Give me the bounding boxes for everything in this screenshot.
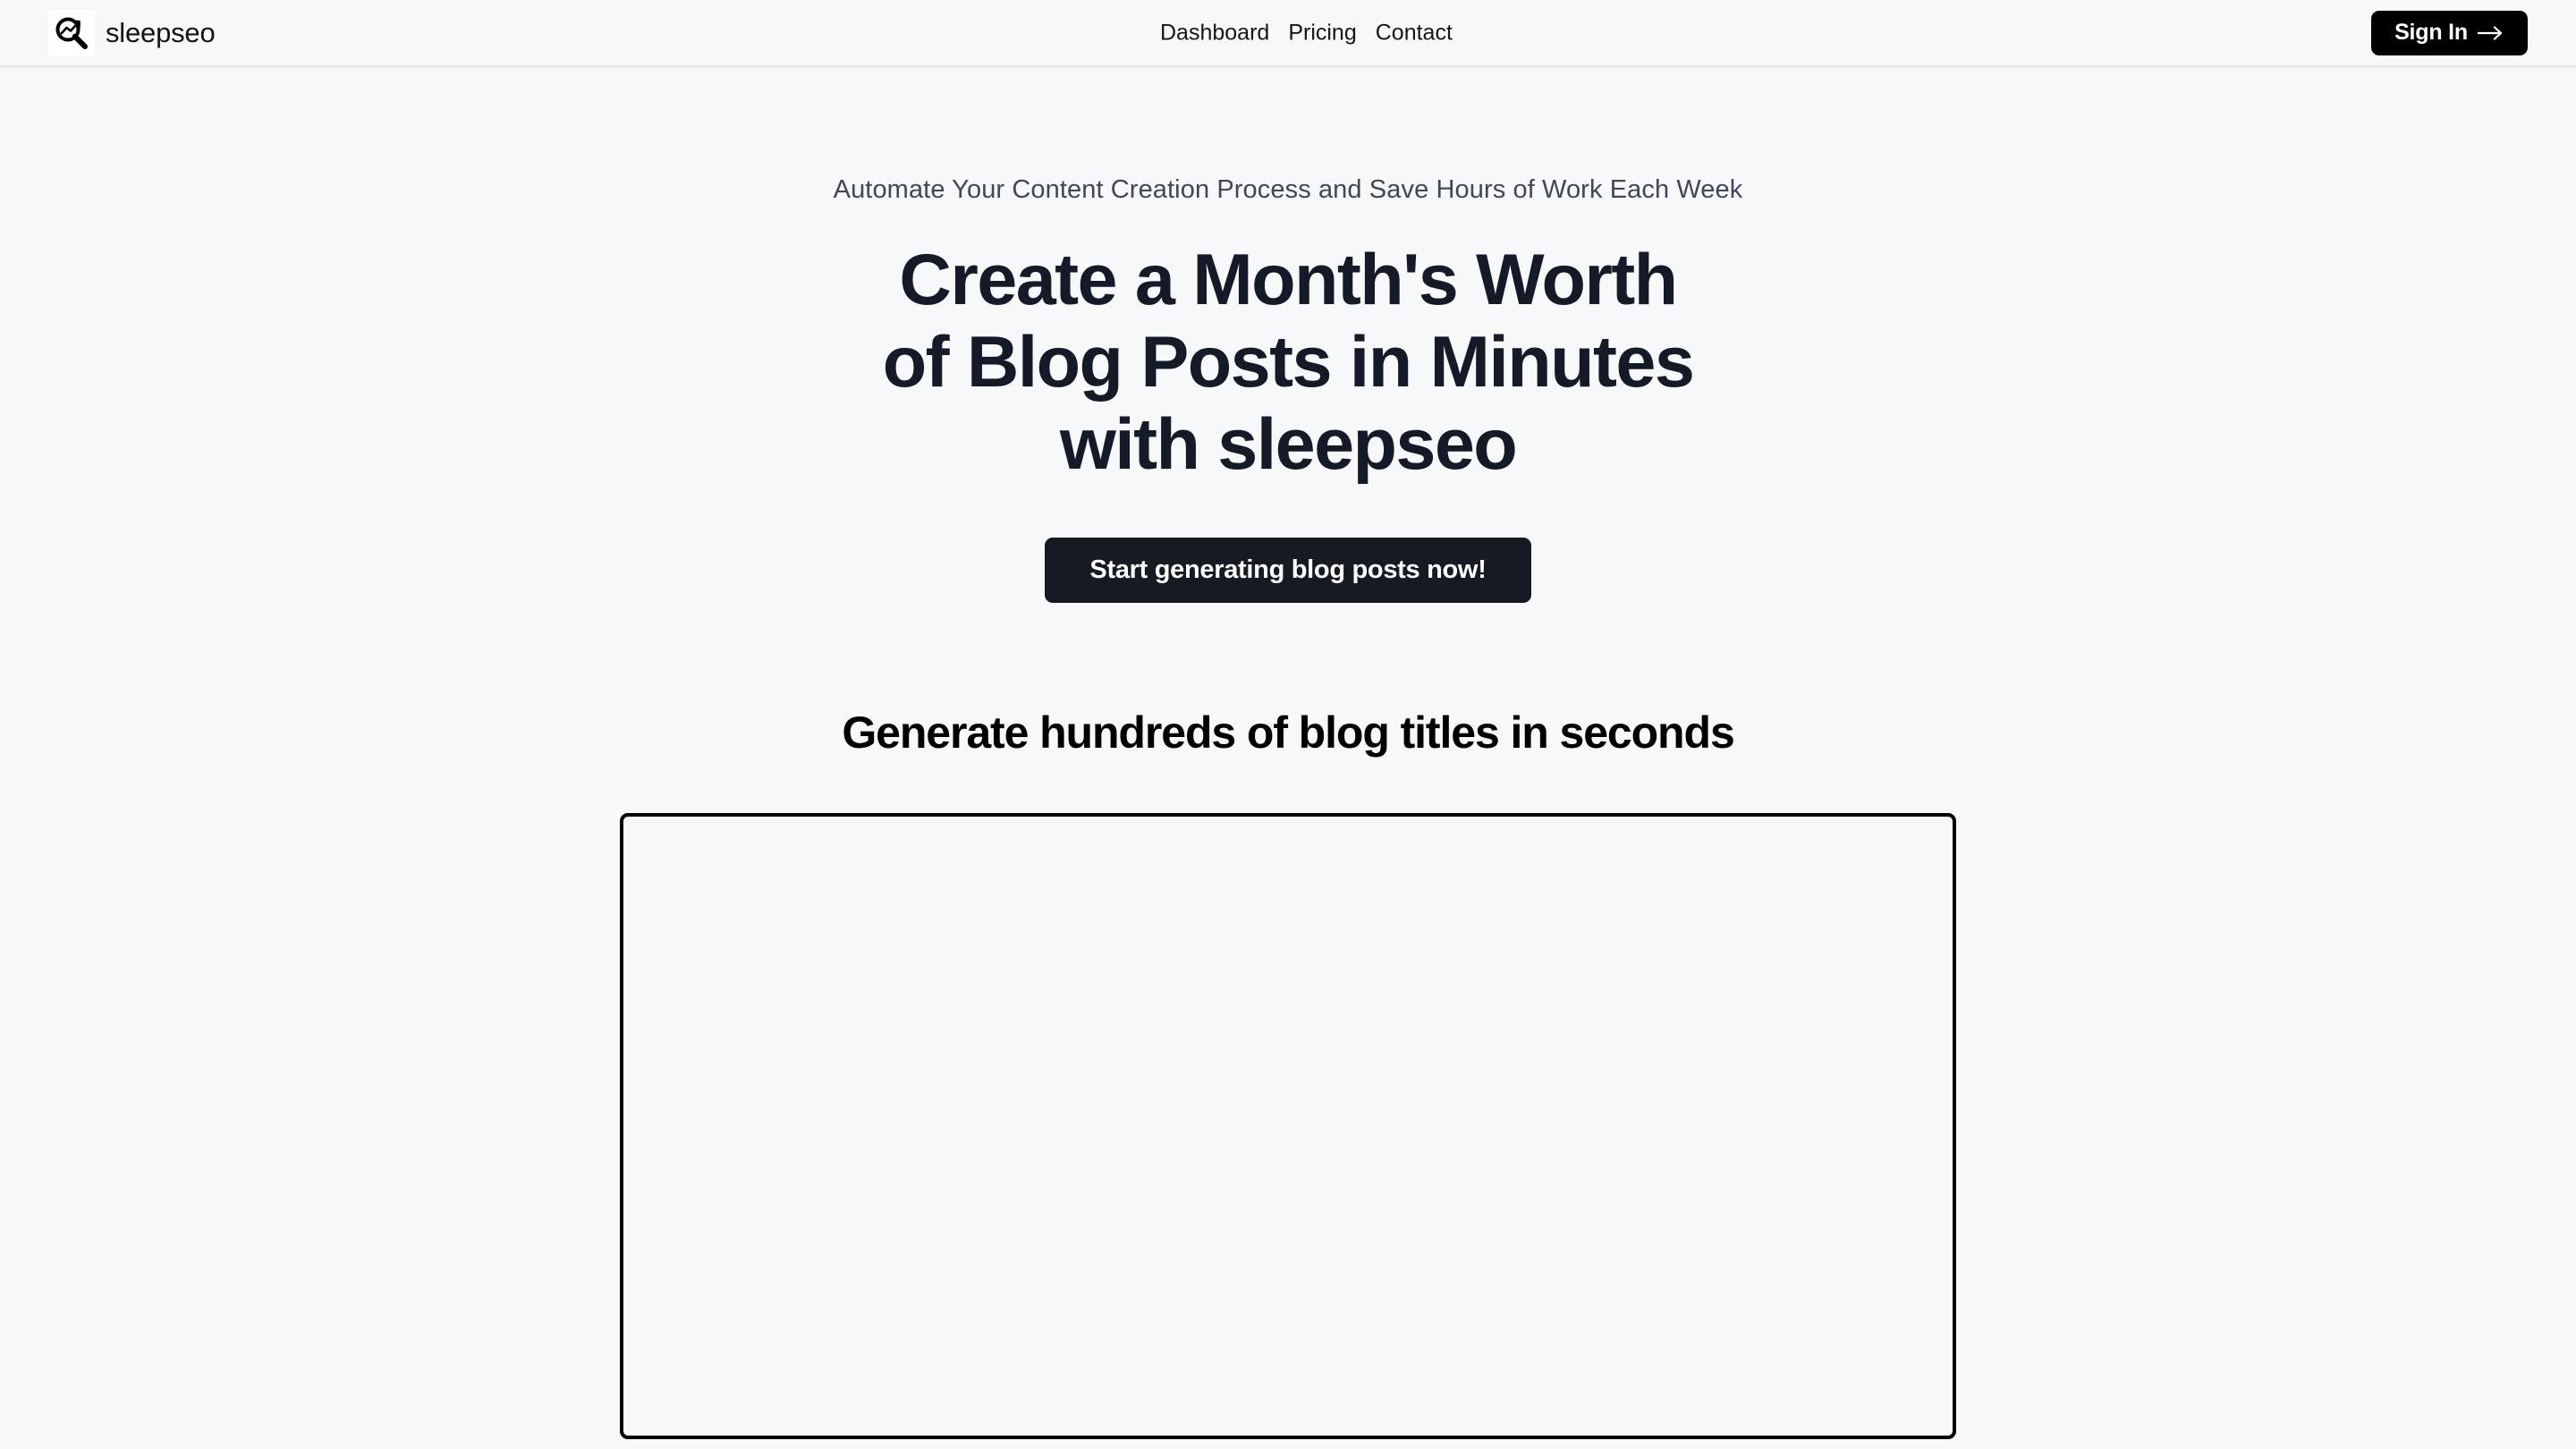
hero-eyebrow: Automate Your Content Creation Process a… [0,174,2576,206]
hero-title-line-2: of Blog Posts in Minutes [0,321,2576,403]
start-generating-button[interactable]: Start generating blog posts now! [1045,538,1530,603]
hero-section: Automate Your Content Creation Process a… [0,65,2576,603]
page-title: Create a Month's Worth of Blog Posts in … [0,239,2576,487]
section-heading: Generate hundreds of blog titles in seco… [0,706,2576,759]
brand-logo-link[interactable]: sleepseo [48,10,216,56]
nav-item-dashboard[interactable]: Dashboard [1160,21,1269,44]
magnifier-trend-icon [48,10,95,56]
demo-section: Generate hundreds of blog titles in seco… [0,603,2576,1439]
nav-item-pricing[interactable]: Pricing [1288,21,1356,44]
sign-in-label: Sign In [2394,20,2468,46]
brand-name: sleepseo [106,19,216,47]
hero-title-line-1: Create a Month's Worth [0,239,2576,321]
nav-item-contact[interactable]: Contact [1376,21,1453,44]
demo-video-frame[interactable] [620,813,1956,1439]
main-nav: Dashboard Pricing Contact [1160,21,1453,44]
hero-title-line-3: with sleepseo [0,403,2576,486]
arrow-right-icon [2478,25,2504,41]
sign-in-button[interactable]: Sign In [2371,11,2528,55]
site-header: sleepseo Dashboard Pricing Contact Sign … [0,0,2576,65]
